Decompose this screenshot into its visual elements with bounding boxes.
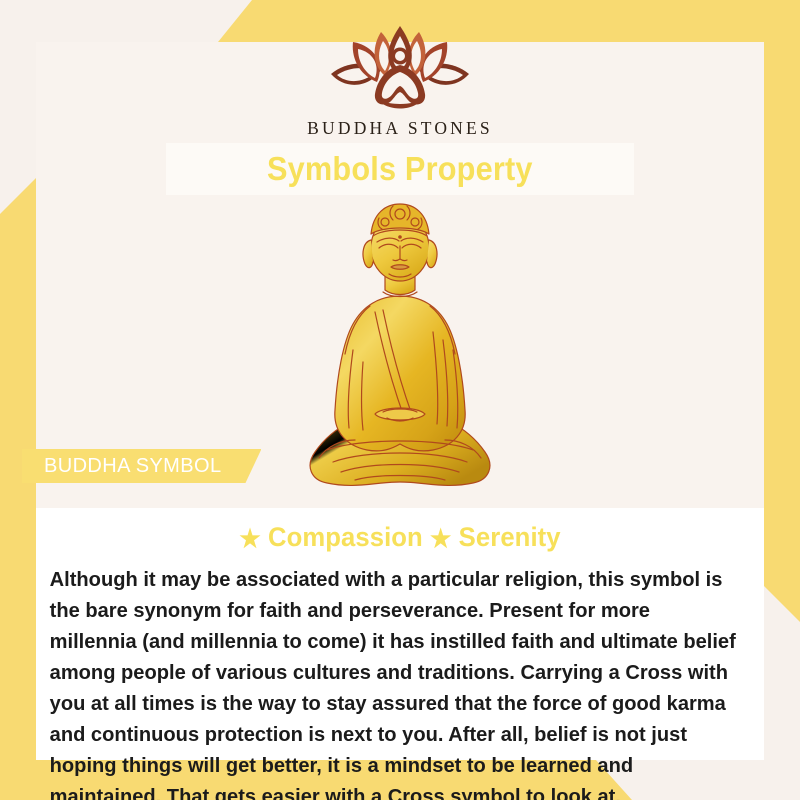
section-tag-label: BUDDHA SYMBOL [44, 455, 221, 478]
star-icon-2: ★ [430, 525, 451, 553]
poster-root: BUDDHA STONES Symbols Property [0, 0, 800, 800]
page-title: Symbols Property [267, 150, 533, 188]
content-paragraph: Although it may be associated with a par… [36, 564, 746, 800]
lotus-meditation-figure-icon [315, 22, 485, 114]
title-banner: Symbols Property [166, 143, 634, 195]
brand-header: BUDDHA STONES [0, 22, 800, 139]
content-panel: ★ Compassion ★ Serenity Although it may … [36, 508, 764, 760]
star-icon-1: ★ [239, 525, 260, 553]
brand-wordmark: BUDDHA STONES [0, 118, 800, 139]
golden-buddha-statue-image [275, 200, 525, 500]
content-subtitle: ★ Compassion ★ Serenity [54, 522, 746, 554]
subtitle-word-serenity: Serenity [459, 522, 561, 552]
subtitle-word-compassion: Compassion [268, 522, 423, 552]
section-tag-buddha-symbol: BUDDHA SYMBOL [22, 449, 261, 483]
